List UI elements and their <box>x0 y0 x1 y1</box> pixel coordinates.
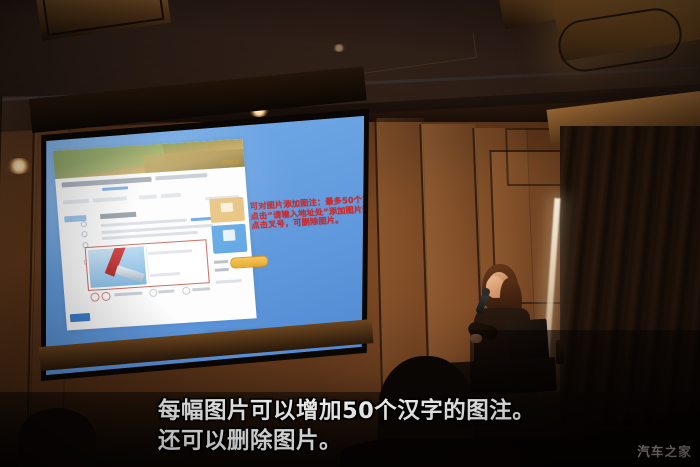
downlight-icon <box>332 44 346 52</box>
address-input[interactable] <box>230 255 269 268</box>
toolbar-label <box>192 287 210 291</box>
section-heading-placeholder <box>100 212 136 219</box>
airplane-wing-photo <box>88 246 147 287</box>
article-title-placeholder <box>61 177 151 188</box>
corner-watermark: 汽车之家 <box>637 441 692 460</box>
image-editor-block[interactable] <box>85 239 210 291</box>
sidebar-hint-text <box>216 279 242 284</box>
projection-screen: 可对图片添加图注：最多50个文字。 点击“请输入地址处”添加图片超链接。 点击叉… <box>23 95 373 387</box>
slide-webpage-mock <box>53 139 257 331</box>
caption-line-1: 每幅图片可以增加50个汉字的图注。 <box>158 396 700 426</box>
subtitle-caption: 每幅图片可以增加50个汉字的图注。 还可以删除图片。 <box>0 396 700 456</box>
sidebar-address-label <box>215 268 229 272</box>
toolbar-label <box>114 292 142 297</box>
edit-caption-icon[interactable] <box>101 292 111 302</box>
save-button[interactable] <box>70 313 91 322</box>
bullet-marker <box>81 221 87 227</box>
slide-annotation: 可对图片添加图注：最多50个文字。 点击“请输入地址处”添加图片超链接。 点击叉… <box>250 194 373 231</box>
delete-image-icon[interactable] <box>90 292 100 302</box>
hero-action-button[interactable] <box>221 159 239 165</box>
toolbar-icon[interactable] <box>149 289 158 297</box>
add-photo-button[interactable] <box>211 224 247 254</box>
hero-banner-image <box>53 139 245 179</box>
toolbar-icon[interactable] <box>182 286 191 294</box>
toolbar-label <box>158 289 174 293</box>
sidebar-link-label <box>214 260 228 264</box>
form-field-placeholder[interactable] <box>63 199 89 205</box>
form-field-placeholder[interactable] <box>161 193 181 198</box>
upload-photo-button[interactable] <box>209 197 245 223</box>
image-caption-placeholder[interactable] <box>148 249 192 255</box>
form-field-placeholder[interactable] <box>139 194 157 199</box>
image-address-placeholder[interactable] <box>150 272 180 277</box>
article-subtitle-placeholder <box>155 173 207 180</box>
bullet-marker <box>81 231 87 237</box>
form-field-placeholder[interactable] <box>93 196 127 202</box>
caption-line-2: 还可以删除图片。 <box>158 426 700 456</box>
inline-link-placeholder[interactable] <box>191 217 213 221</box>
microphone-head-icon <box>482 288 490 296</box>
article-link-placeholder[interactable] <box>102 186 128 191</box>
presentation-photo: 可对图片添加图注：最多50个文字。 点击“请输入地址处”添加图片超链接。 点击叉… <box>0 0 700 467</box>
